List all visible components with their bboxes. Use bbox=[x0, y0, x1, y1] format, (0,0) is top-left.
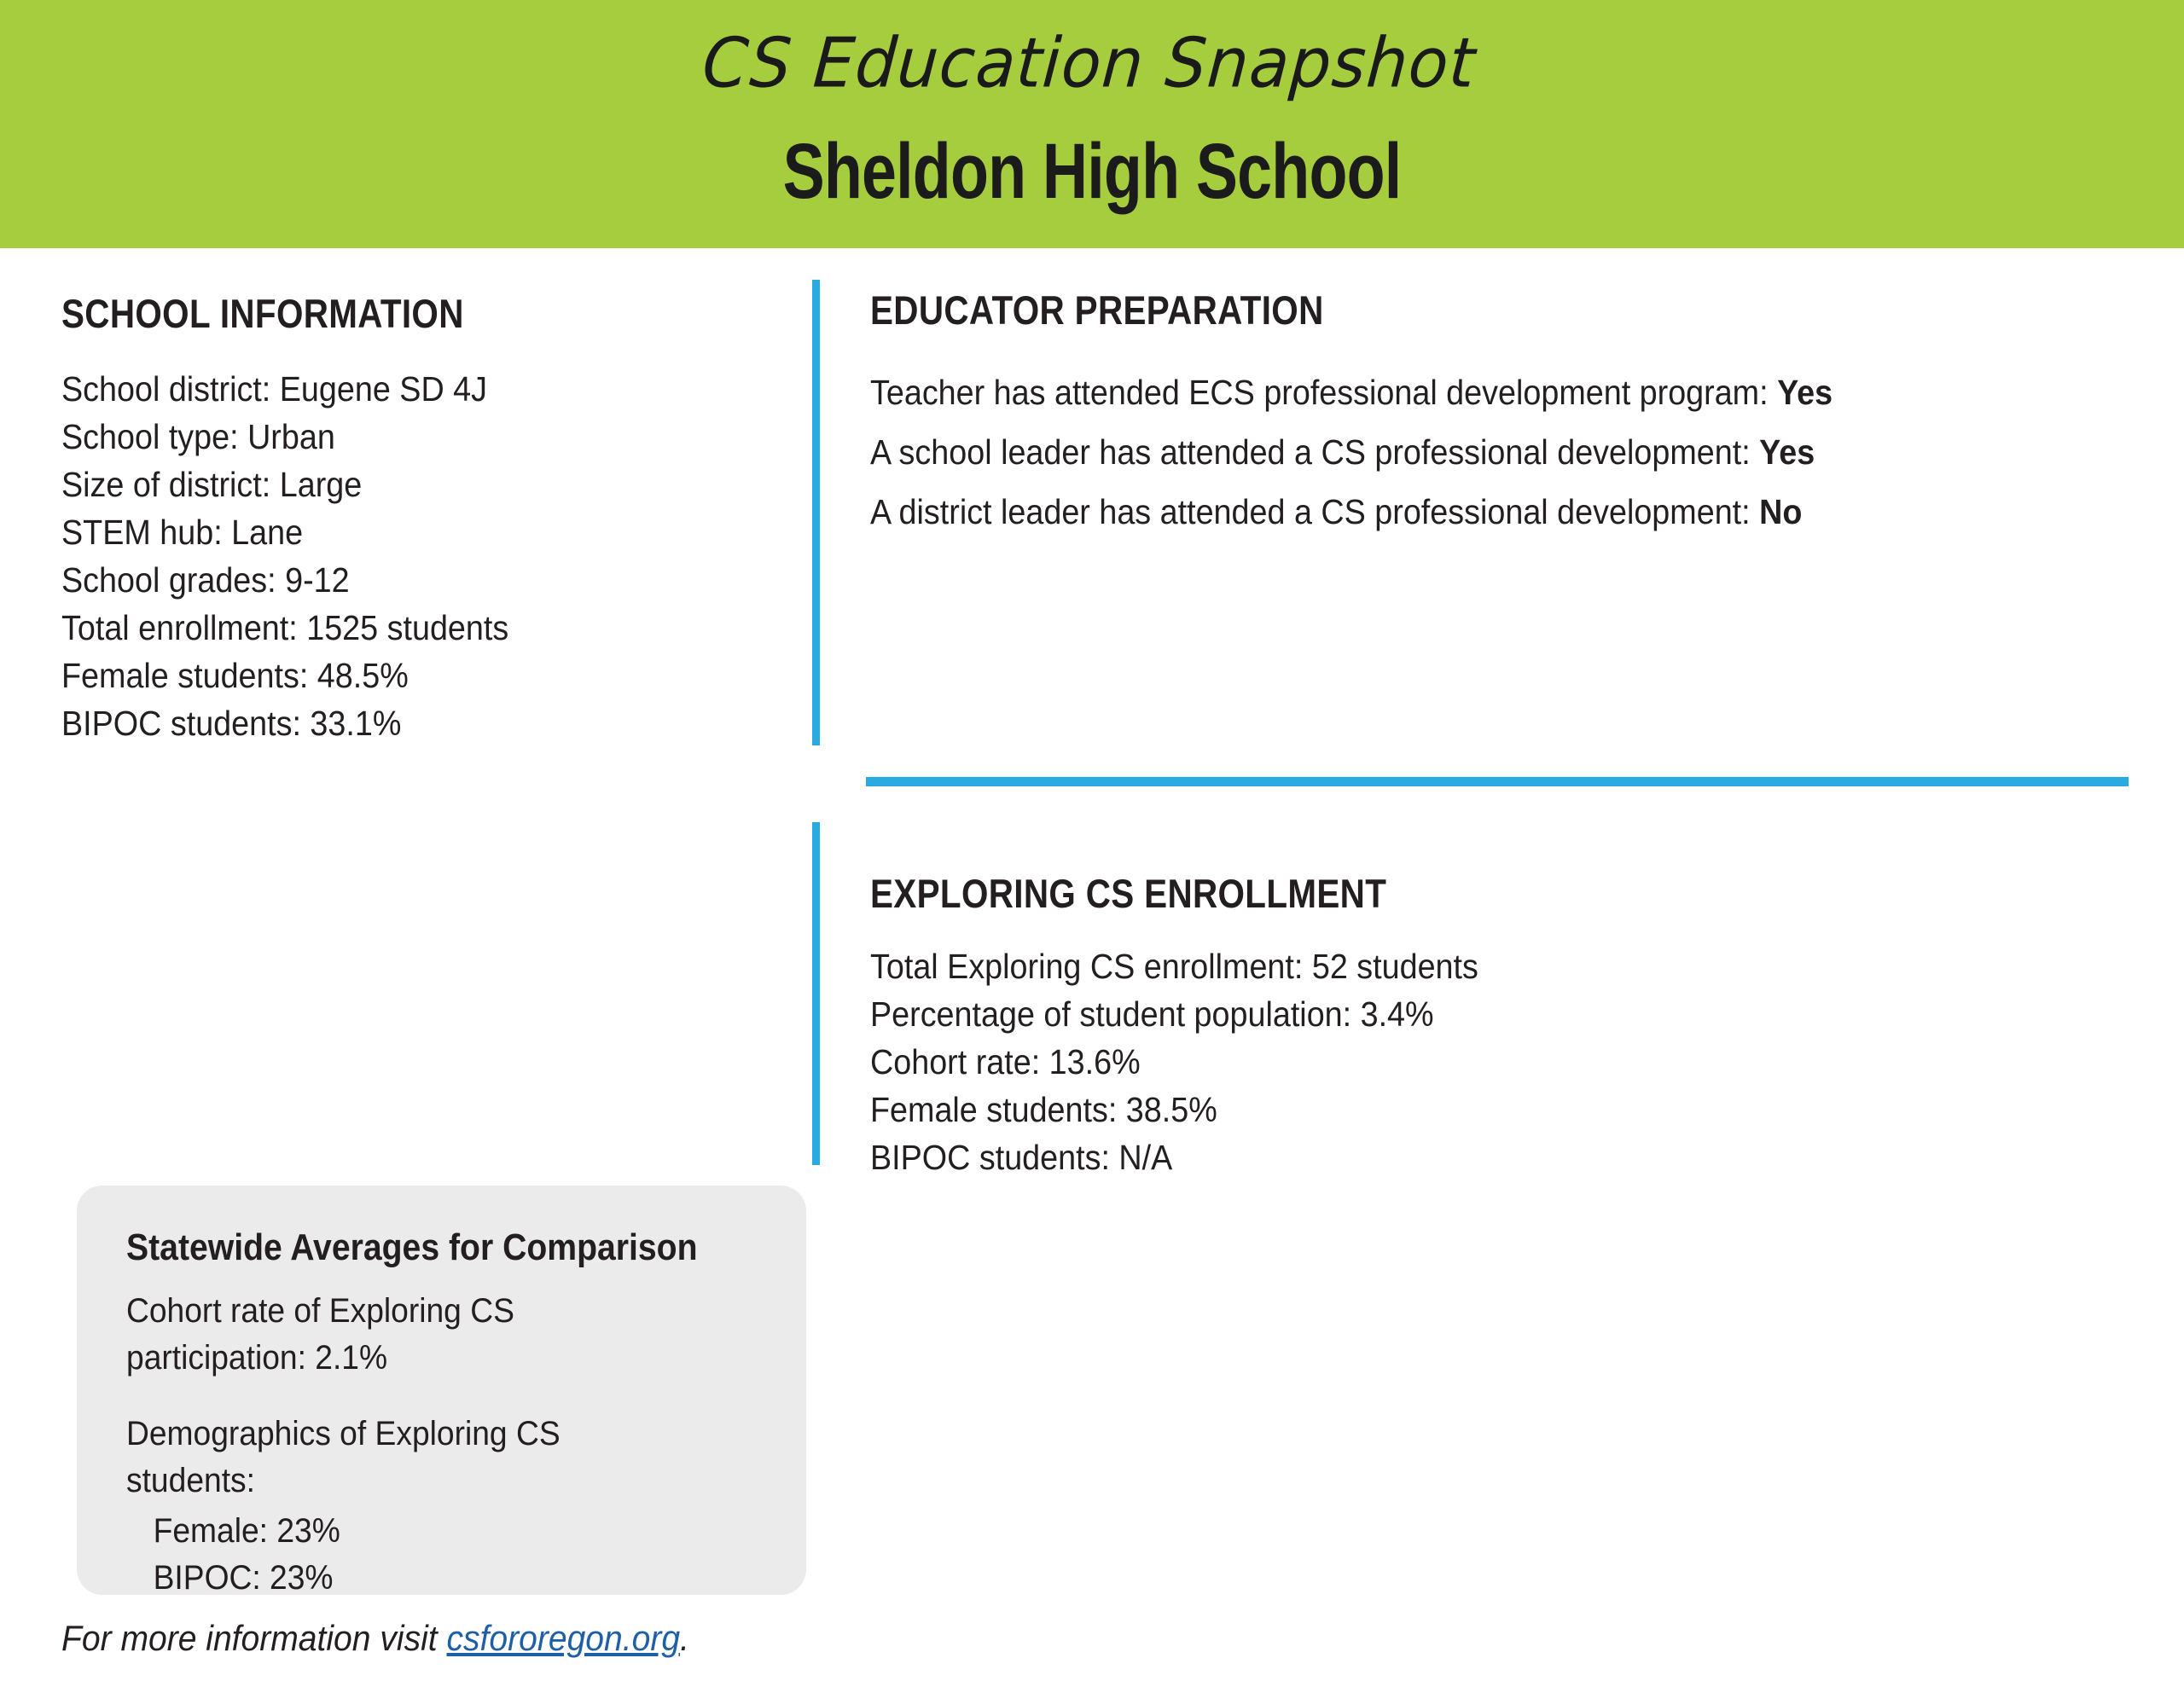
exploring-cs-line: Female students: 38.5% bbox=[870, 1086, 1969, 1133]
educator-prep-item-value: Yes bbox=[1759, 432, 1815, 472]
school-info-line: School grades: 9-12 bbox=[61, 556, 705, 604]
school-info-line: School district: Eugene SD 4J bbox=[61, 365, 705, 413]
section-divider-rule bbox=[866, 777, 2129, 786]
educator-prep-item-label: A district leader has attended a CS prof… bbox=[870, 492, 1759, 531]
school-info-line: Female students: 48.5% bbox=[61, 652, 705, 699]
footer-suffix-text: . bbox=[680, 1618, 689, 1658]
statewide-averages-box: Statewide Averages for Comparison Cohort… bbox=[77, 1186, 806, 1595]
educator-prep-item-label: Teacher has attended ECS professional de… bbox=[870, 373, 1777, 412]
footer-note: For more information visit csfororegon.o… bbox=[61, 1618, 689, 1659]
school-information-heading: SCHOOL INFORMATION bbox=[61, 290, 663, 337]
header-script-title: CS Education Snapshot bbox=[0, 22, 2184, 102]
educator-preparation-section: EDUCATOR PREPARATION Teacher has attende… bbox=[870, 287, 2150, 542]
statewide-demographics-label: Demographics of Exploring CS students: bbox=[126, 1411, 634, 1504]
school-info-line: Total enrollment: 1525 students bbox=[61, 604, 705, 652]
page-header: CS Education Snapshot Sheldon High Schoo… bbox=[0, 0, 2184, 248]
statewide-demographic-female: Female: 23% bbox=[126, 1508, 712, 1555]
footer-prefix-text: For more information visit bbox=[61, 1618, 446, 1658]
educator-preparation-heading: EDUCATOR PREPARATION bbox=[870, 287, 1971, 333]
exploring-cs-line: Cohort rate: 13.6% bbox=[870, 1038, 1969, 1086]
school-info-line: Size of district: Large bbox=[61, 461, 705, 508]
school-info-line: School type: Urban bbox=[61, 413, 705, 461]
school-info-line: BIPOC students: 33.1% bbox=[61, 699, 705, 747]
exploring-cs-accent-bar bbox=[812, 822, 820, 1165]
exploring-cs-line: Total Exploring CS enrollment: 52 studen… bbox=[870, 942, 1969, 990]
page-title: Sheldon High School bbox=[218, 132, 1966, 211]
exploring-cs-line: BIPOC students: N/A bbox=[870, 1133, 1969, 1181]
educator-prep-accent-bar bbox=[812, 280, 820, 745]
educator-prep-item: A school leader has attended a CS profes… bbox=[870, 422, 2047, 482]
educator-prep-item-label: A school leader has attended a CS profes… bbox=[870, 432, 1759, 472]
statewide-averages-heading: Statewide Averages for Comparison bbox=[126, 1226, 688, 1269]
csfororegon-link[interactable]: csfororegon.org bbox=[446, 1618, 680, 1658]
educator-prep-item: A district leader has attended a CS prof… bbox=[870, 482, 2047, 542]
educator-prep-item-value: No bbox=[1759, 492, 1802, 531]
statewide-demographic-bipoc: BIPOC: 23% bbox=[126, 1555, 712, 1602]
statewide-cohort-rate: Cohort rate of Exploring CS participatio… bbox=[126, 1288, 634, 1382]
educator-prep-item-value: Yes bbox=[1777, 373, 1833, 412]
exploring-cs-line: Percentage of student population: 3.4% bbox=[870, 990, 1969, 1038]
educator-prep-item: Teacher has attended ECS professional de… bbox=[870, 362, 2047, 422]
school-info-line: STEM hub: Lane bbox=[61, 508, 705, 556]
school-information-section: SCHOOL INFORMATION School district: Euge… bbox=[61, 290, 761, 747]
exploring-cs-enrollment-section: EXPLORING CS ENROLLMENT Total Exploring … bbox=[870, 870, 2065, 1181]
exploring-cs-enrollment-heading: EXPLORING CS ENROLLMENT bbox=[870, 870, 1897, 917]
